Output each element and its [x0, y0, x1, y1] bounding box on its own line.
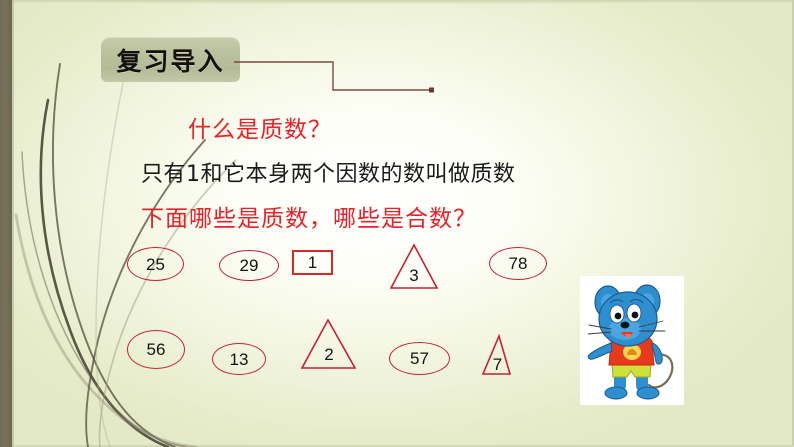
number-label: 29 [240, 257, 259, 274]
question-primes-definition: 什么是质数？ [188, 110, 332, 144]
number-shape-ellipse-78[interactable]: 78 [489, 247, 547, 280]
number-label: 13 [230, 351, 249, 368]
mascot-image-frame [581, 277, 683, 404]
left-side-bar-edge [12, 0, 14, 447]
number-label: 3 [409, 267, 418, 284]
number-label: 56 [147, 341, 166, 358]
question-classify-numbers: 下面哪些是质数，哪些是合数？ [141, 199, 477, 233]
top-border-line [0, 0, 794, 4]
number-label: 1 [308, 254, 317, 271]
number-shape-triangle-3[interactable]: 3 [389, 243, 439, 290]
number-shape-triangle-7[interactable]: 7 [481, 334, 512, 376]
number-shape-ellipse-57[interactable]: 57 [389, 342, 450, 375]
number-shape-ellipse-56[interactable]: 56 [127, 330, 185, 369]
number-label: 25 [146, 256, 165, 273]
section-title-text: 复习导入 [101, 42, 240, 78]
number-label: 78 [509, 255, 528, 272]
left-side-bar [0, 0, 12, 447]
section-title-box: 复习导入 [101, 37, 240, 82]
answer-primes-definition: 只有1和它本身两个因数的数叫做质数 [141, 156, 516, 188]
number-shape-triangle-2[interactable]: 2 [300, 318, 358, 370]
slide-canvas: 复习导入 什么是质数？ 只有1和它本身两个因数的数叫做质数 下面哪些是质数，哪些… [0, 0, 794, 447]
number-label: 57 [410, 350, 429, 367]
number-shape-ellipse-13[interactable]: 13 [212, 343, 266, 375]
number-shape-rectangle-1[interactable]: 1 [292, 250, 333, 275]
number-shape-ellipse-29[interactable]: 29 [219, 250, 279, 281]
number-label: 7 [493, 356, 502, 373]
number-label: 2 [324, 346, 333, 363]
blue-cartoon-mouse-icon [581, 277, 683, 404]
number-shape-ellipse-25[interactable]: 25 [127, 247, 184, 281]
